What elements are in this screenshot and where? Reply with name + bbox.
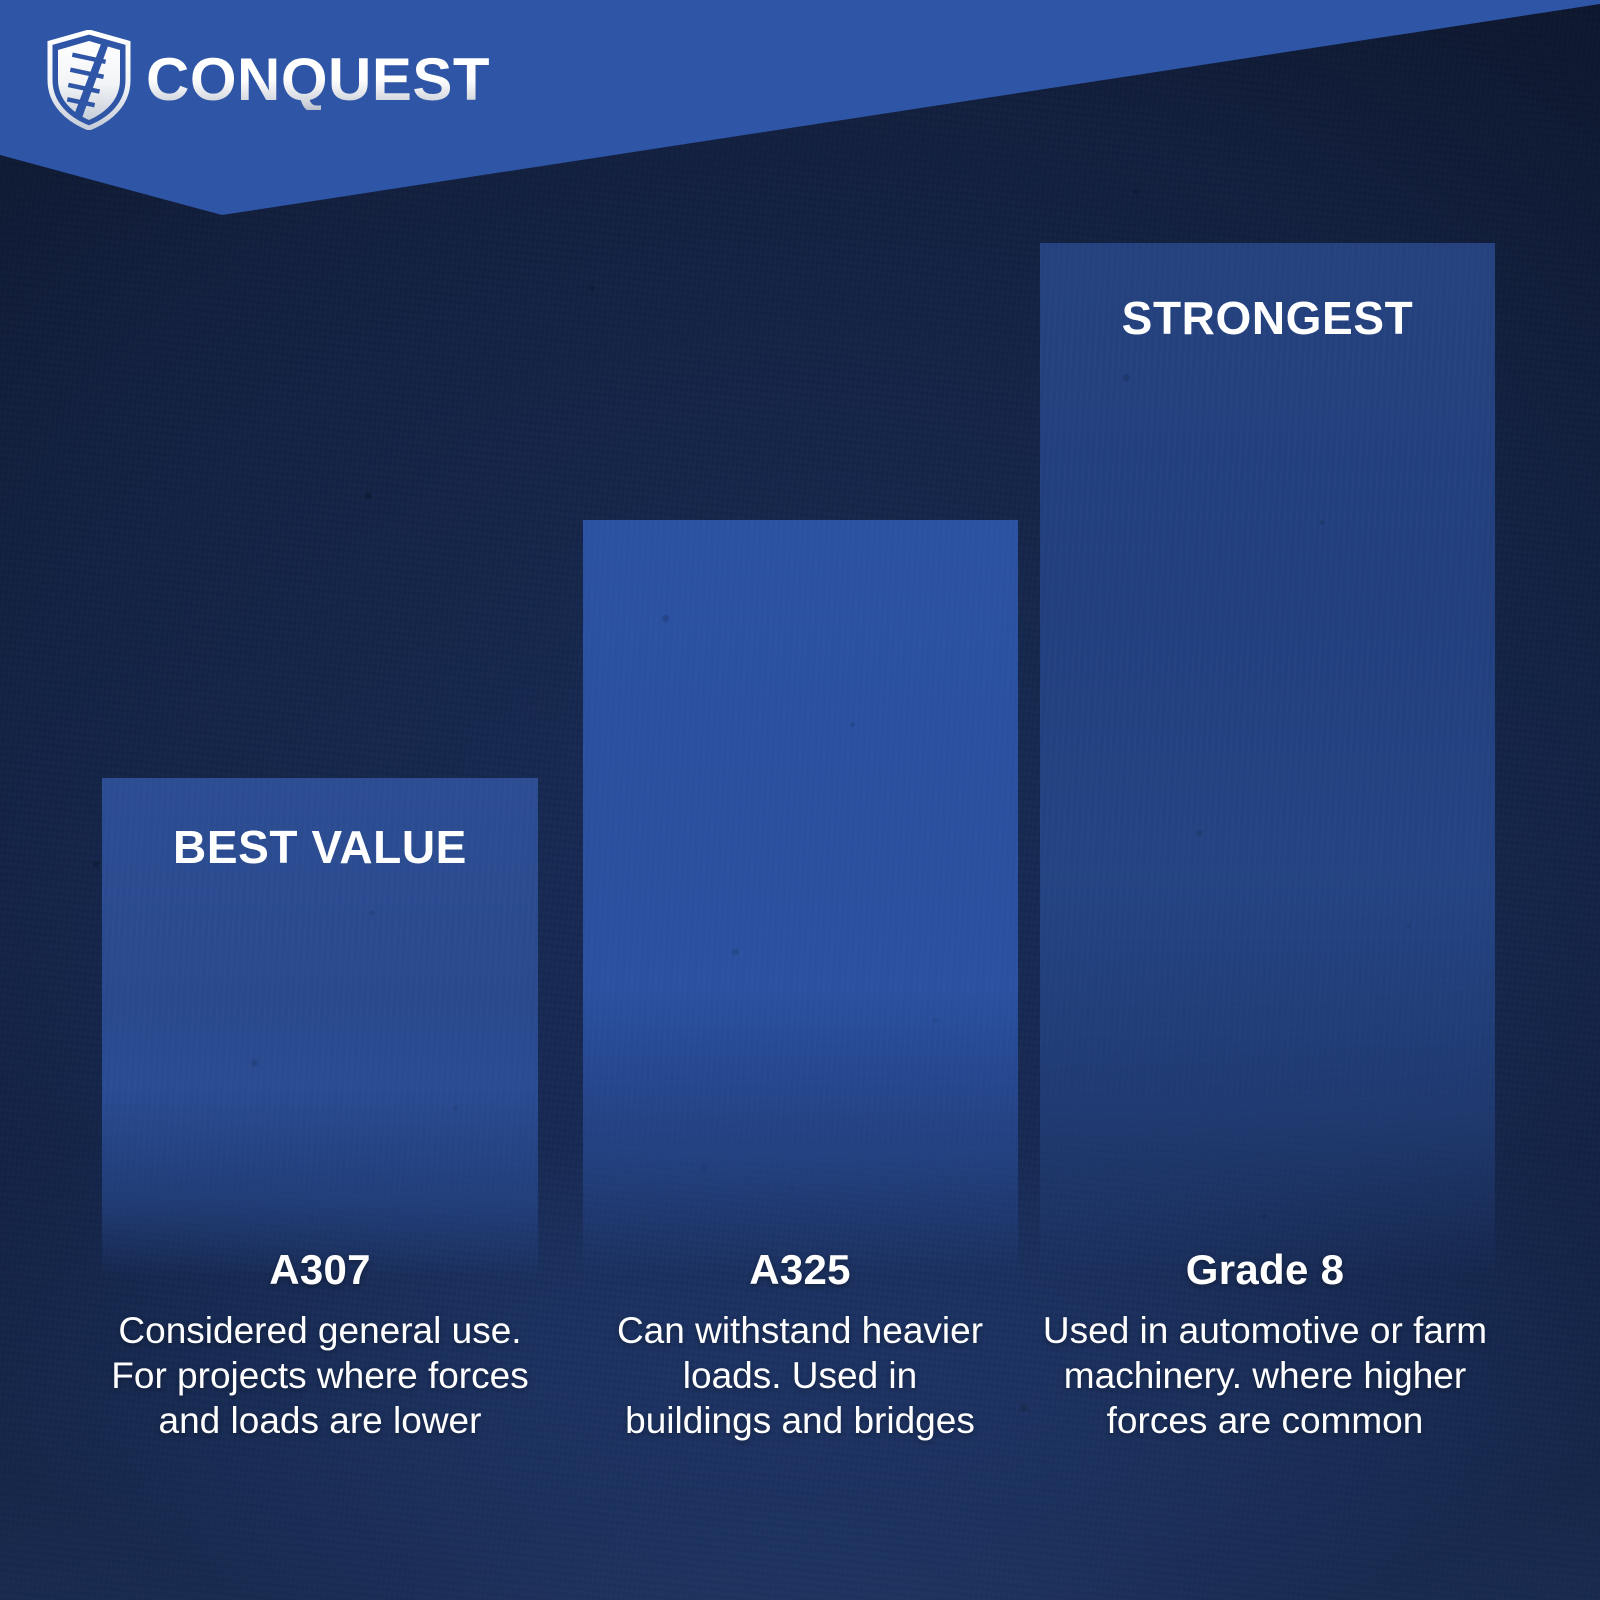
brand-name: CONQUEST (146, 50, 490, 110)
caption-grade-8: Grade 8 Used in automotive or farm machi… (1040, 1248, 1490, 1443)
caption-grade-8-title: Grade 8 (1040, 1248, 1490, 1292)
caption-a307: A307 Considered general use. For project… (92, 1248, 548, 1443)
caption-a307-title: A307 (92, 1248, 548, 1292)
bar-a307: BEST VALUE (102, 778, 538, 1278)
caption-a325-title: A325 (610, 1248, 990, 1292)
bar-grade-8-texture (1040, 243, 1495, 1278)
badge-strongest: STRONGEST (1040, 291, 1495, 345)
caption-grade-8-description: Used in automotive or farm machinery. wh… (1040, 1308, 1490, 1443)
caption-a325: A325 Can withstand heavier loads. Used i… (610, 1248, 990, 1443)
bar-grade-8: STRONGEST (1040, 243, 1495, 1278)
caption-a325-description: Can withstand heavier loads. Used in bui… (610, 1308, 990, 1443)
bar-a325 (583, 520, 1018, 1278)
shield-screw-icon (46, 30, 132, 130)
bar-a325-texture (583, 520, 1018, 1278)
badge-best-value: BEST VALUE (102, 820, 538, 874)
caption-a307-description: Considered general use. For projects whe… (92, 1308, 548, 1443)
brand-logo[interactable]: CONQUEST (46, 30, 490, 130)
